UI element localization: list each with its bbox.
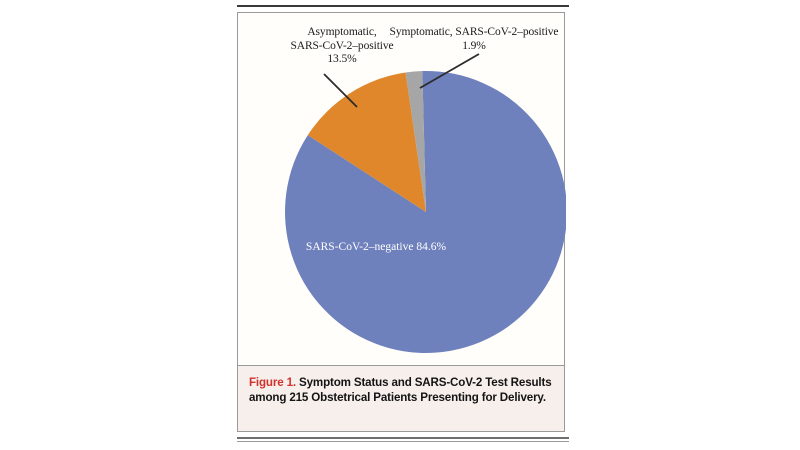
figure-frame: Asymptomatic, SARS-CoV-2–positive 13.5% …	[237, 12, 565, 432]
callout-asymptomatic-line1: Asymptomatic,	[307, 26, 376, 38]
callout-symptomatic-percent: 1.9%	[388, 40, 560, 54]
figure-caption-text: Figure 1. Symptom Status and SARS-CoV-2 …	[249, 375, 553, 406]
callout-negative-line1: SARS-CoV-2–negative	[306, 241, 414, 253]
callout-asymptomatic-percent: 13.5%	[277, 53, 407, 67]
page-rule-bottom	[237, 437, 569, 439]
callout-negative: SARS-CoV-2–negative 84.6%	[286, 241, 466, 255]
page-rule-top	[237, 5, 569, 7]
figure-caption-label: Figure 1.	[249, 376, 296, 389]
callout-symptomatic: Symptomatic, SARS-CoV-2–positive 1.9%	[388, 26, 560, 53]
callout-symptomatic-line1: Symptomatic, SARS-CoV-2–positive	[390, 26, 559, 38]
pie-chart: Asymptomatic, SARS-CoV-2–positive 13.5% …	[238, 13, 566, 363]
page-rule-bottom-thin	[237, 441, 569, 442]
callout-negative-percent: 84.6%	[416, 241, 446, 253]
callout-asymptomatic-line2: SARS-CoV-2–positive	[290, 40, 393, 52]
figure-caption-box: Figure 1. Symptom Status and SARS-CoV-2 …	[238, 365, 564, 431]
